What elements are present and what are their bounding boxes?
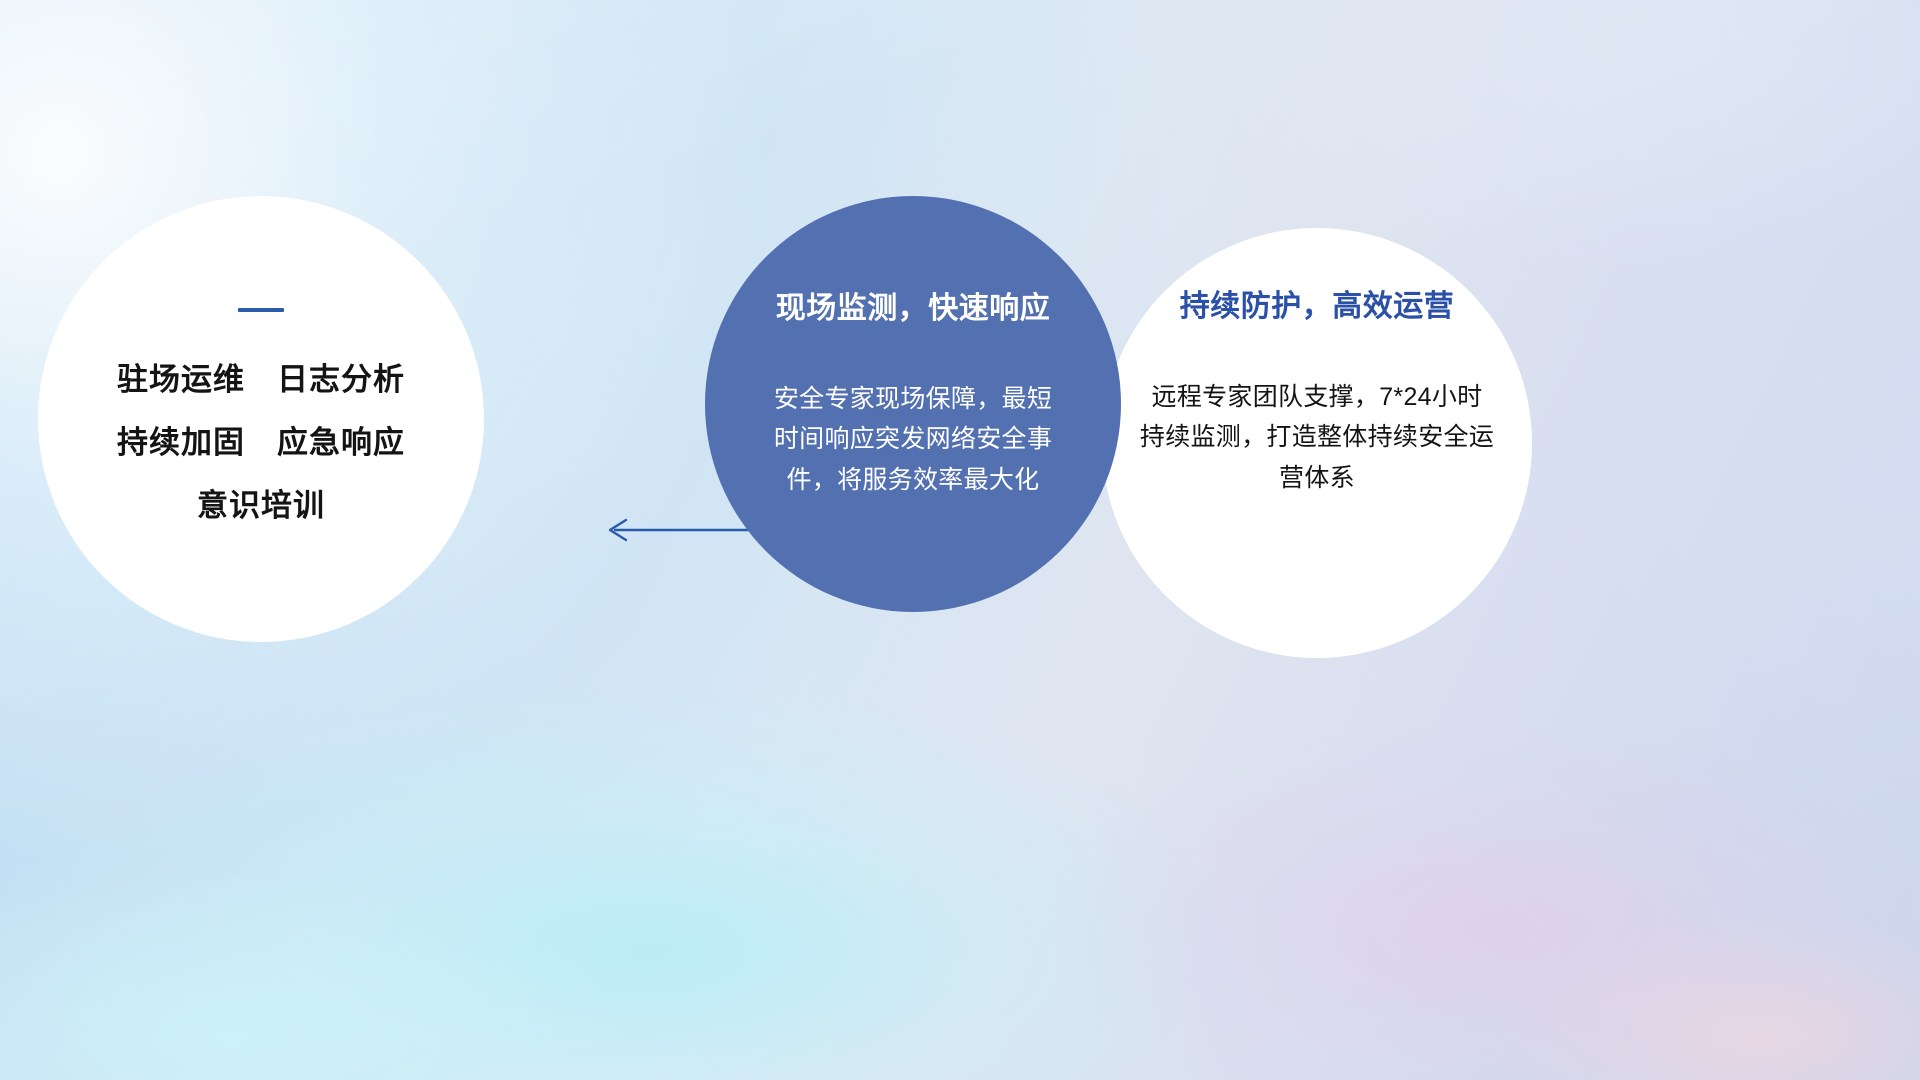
- onsite-monitoring-content: 现场监测，快速响应 安全专家现场保障，最短时间响应突发网络安全事件，将服务效率最…: [705, 196, 1121, 612]
- continuous-protection-body: 远程专家团队支撑，7*24小时持续监测，打造整体持续安全运营体系: [1140, 377, 1495, 499]
- capability-line-2: 持续加固 应急响应: [117, 427, 405, 458]
- capabilities-content: 驻场运维 日志分析 持续加固 应急响应 意识培训: [38, 196, 484, 642]
- slide-canvas: 驻场运维 日志分析 持续加固 应急响应 意识培训 现场监测，快速响应 安全专家现…: [0, 0, 1920, 1080]
- divider-rule: [238, 308, 284, 312]
- capability-line-3: 意识培训: [197, 490, 325, 521]
- onsite-monitoring-title: 现场监测，快速响应: [776, 292, 1051, 327]
- capability-line-1: 驻场运维 日志分析: [117, 364, 405, 395]
- onsite-monitoring-body: 安全专家现场保障，最短时间响应突发网络安全事件，将服务效率最大化: [763, 379, 1063, 501]
- continuous-protection-title: 持续防护，高效运营: [1180, 290, 1455, 325]
- continuous-protection-content: 持续防护，高效运营 远程专家团队支撑，7*24小时持续监测，打造整体持续安全运营…: [1102, 228, 1532, 658]
